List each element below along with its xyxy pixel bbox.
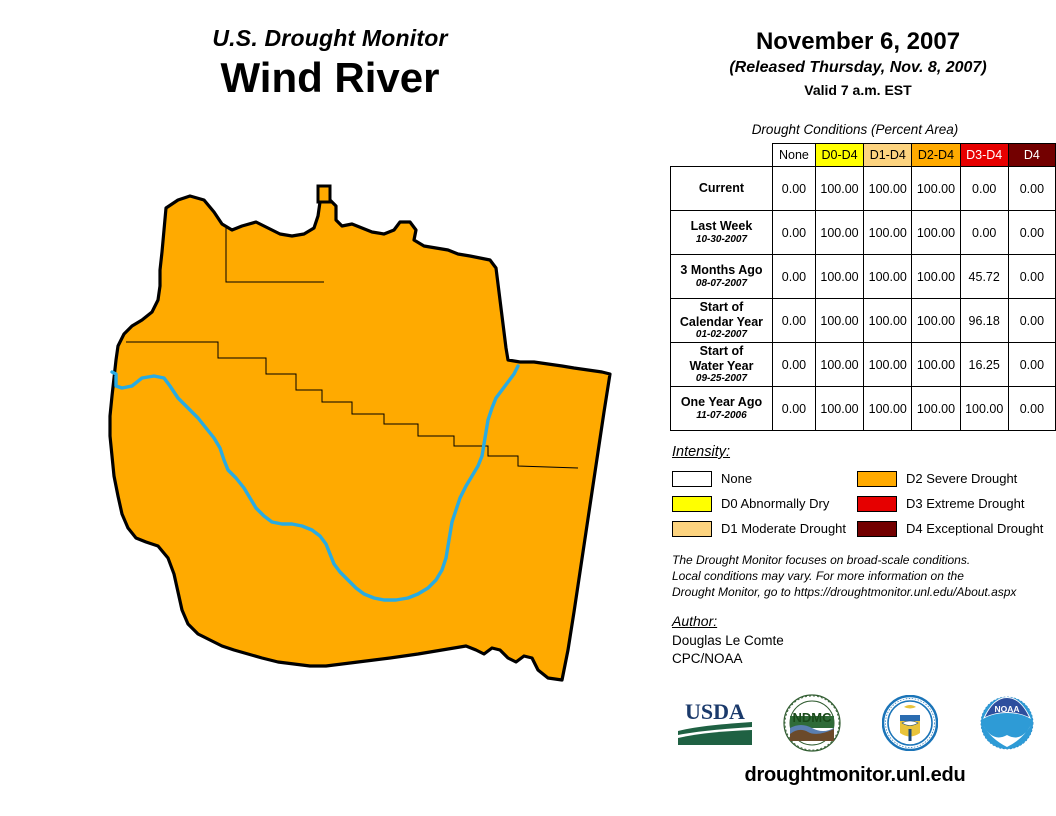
cell-d3-d4: 96.18 xyxy=(960,299,1008,343)
legend-label: D2 Severe Drought xyxy=(906,471,1017,486)
author-name: Douglas Le Comte xyxy=(672,632,1056,650)
legend-swatch xyxy=(857,471,897,487)
ndmc-logo-icon: NDMC xyxy=(783,694,841,752)
cell-d4: 0.00 xyxy=(1008,211,1055,255)
row-label-name: Start ofCalendar Year xyxy=(671,300,772,330)
legend-item: D3 Extreme Drought xyxy=(857,496,1056,512)
table-header: None D0-D4 D1-D4 D2-D4 D3-D4 D4 xyxy=(671,144,1056,167)
valid-time: Valid 7 a.m. EST xyxy=(660,81,1056,101)
disclaimer-line-2: Local conditions may vary. For more info… xyxy=(672,569,1056,585)
right-panel: November 6, 2007 (Released Thursday, Nov… xyxy=(660,0,1056,816)
cell-d4: 0.00 xyxy=(1008,343,1055,387)
usdc-seal-icon xyxy=(882,695,938,751)
cell-d1-d4: 100.00 xyxy=(864,299,912,343)
column-header-d4: D4 xyxy=(1008,144,1055,167)
cell-d3-d4: 45.72 xyxy=(960,255,1008,299)
cell-d4: 0.00 xyxy=(1008,255,1055,299)
cell-d0-d4: 100.00 xyxy=(815,211,863,255)
cell-d2-d4: 100.00 xyxy=(912,167,960,211)
cell-d2-d4: 100.00 xyxy=(912,343,960,387)
usda-logo[interactable]: USDA xyxy=(672,692,758,754)
cell-d2-d4: 100.00 xyxy=(912,211,960,255)
column-header-d2-d4: D2-D4 xyxy=(912,144,960,167)
legend-item: D4 Exceptional Drought xyxy=(857,521,1056,537)
cell-d2-d4: 100.00 xyxy=(912,255,960,299)
cell-d4: 0.00 xyxy=(1008,167,1055,211)
legend-swatch xyxy=(672,496,712,512)
row-label: Start ofCalendar Year01-02-2007 xyxy=(671,299,773,343)
cell-d1-d4: 100.00 xyxy=(864,343,912,387)
cell-d3-d4: 16.25 xyxy=(960,343,1008,387)
cell-d3-d4: 0.00 xyxy=(960,167,1008,211)
cell-none: 0.00 xyxy=(772,211,815,255)
row-label-date: 01-02-2007 xyxy=(671,329,772,341)
row-label: One Year Ago11-07-2006 xyxy=(671,387,773,431)
disclaimer-line-1: The Drought Monitor focuses on broad-sca… xyxy=(672,553,1056,569)
table-row: One Year Ago11-07-20060.00100.00100.0010… xyxy=(671,387,1056,431)
cell-d1-d4: 100.00 xyxy=(864,255,912,299)
cell-d4: 0.00 xyxy=(1008,299,1055,343)
legend-item: None xyxy=(672,471,857,487)
legend-swatch xyxy=(672,471,712,487)
map-svg xyxy=(18,150,658,790)
table-row: Start ofWater Year09-25-20070.00100.0010… xyxy=(671,343,1056,387)
cell-d1-d4: 100.00 xyxy=(864,167,912,211)
intensity-heading: Intensity: xyxy=(672,444,1056,460)
cell-d4: 0.00 xyxy=(1008,387,1055,431)
row-label-date: 08-07-2007 xyxy=(671,278,772,290)
row-label-name: Last Week xyxy=(671,219,772,234)
page-title: Wind River xyxy=(0,54,660,101)
cell-d0-d4: 100.00 xyxy=(815,167,863,211)
cell-d2-d4: 100.00 xyxy=(912,299,960,343)
cell-d3-d4: 100.00 xyxy=(960,387,1008,431)
legend-label: D4 Exceptional Drought xyxy=(906,521,1043,536)
table-body: Current0.00100.00100.00100.000.000.00Las… xyxy=(671,167,1056,431)
usdc-seal[interactable] xyxy=(867,692,953,754)
disclaimer-text: The Drought Monitor focuses on broad-sca… xyxy=(672,553,1056,601)
svg-text:USDA: USDA xyxy=(685,699,745,724)
column-header-none: None xyxy=(772,144,815,167)
row-label-name: Current xyxy=(671,181,772,196)
table-caption: Drought Conditions (Percent Area) xyxy=(660,122,1050,137)
row-label-name: Start ofWater Year xyxy=(671,344,772,374)
row-label-name: One Year Ago xyxy=(671,395,772,410)
intensity-legend: Intensity: NoneD2 Severe DroughtD0 Abnor… xyxy=(672,444,1056,541)
table-header-row: None D0-D4 D1-D4 D2-D4 D3-D4 D4 xyxy=(671,144,1056,167)
legend-grid: NoneD2 Severe DroughtD0 Abnormally DryD3… xyxy=(672,466,1056,541)
usda-logo-icon: USDA xyxy=(674,697,756,749)
cell-none: 0.00 xyxy=(772,255,815,299)
title-block: U.S. Drought Monitor Wind River xyxy=(0,26,660,101)
legend-item: D1 Moderate Drought xyxy=(672,521,857,537)
row-label: 3 Months Ago08-07-2007 xyxy=(671,255,773,299)
table-corner-cell xyxy=(671,144,773,167)
cell-d1-d4: 100.00 xyxy=(864,387,912,431)
legend-label: None xyxy=(721,471,752,486)
row-label: Current xyxy=(671,167,773,211)
program-title: U.S. Drought Monitor xyxy=(0,26,660,50)
cell-d0-d4: 100.00 xyxy=(815,255,863,299)
legend-swatch xyxy=(857,521,897,537)
row-label: Start ofWater Year09-25-2007 xyxy=(671,343,773,387)
cell-d1-d4: 100.00 xyxy=(864,211,912,255)
author-affiliation: CPC/NOAA xyxy=(672,650,1056,668)
cell-d2-d4: 100.00 xyxy=(912,387,960,431)
valid-date: November 6, 2007 xyxy=(660,28,1056,56)
cell-none: 0.00 xyxy=(772,299,815,343)
table-row: Current0.00100.00100.00100.000.000.00 xyxy=(671,167,1056,211)
northern-notch-detail xyxy=(318,186,330,202)
legend-item: D0 Abnormally Dry xyxy=(672,496,857,512)
cell-d0-d4: 100.00 xyxy=(815,299,863,343)
drought-conditions-table: None D0-D4 D1-D4 D2-D4 D3-D4 D4 Current0… xyxy=(670,143,1056,431)
row-label: Last Week10-30-2007 xyxy=(671,211,773,255)
cell-d0-d4: 100.00 xyxy=(815,387,863,431)
row-label-name: 3 Months Ago xyxy=(671,263,772,278)
row-label-date: 09-25-2007 xyxy=(671,373,772,385)
cell-none: 0.00 xyxy=(772,343,815,387)
column-header-d0-d4: D0-D4 xyxy=(815,144,863,167)
cell-none: 0.00 xyxy=(772,167,815,211)
released-date: (Released Thursday, Nov. 8, 2007) xyxy=(660,57,1056,79)
site-url[interactable]: droughtmonitor.unl.edu xyxy=(660,764,1050,787)
disclaimer-line-3: Drought Monitor, go to https://droughtmo… xyxy=(672,585,1056,601)
cell-d3-d4: 0.00 xyxy=(960,211,1008,255)
column-header-d3-d4: D3-D4 xyxy=(960,144,1008,167)
reservation-area-polygon xyxy=(110,196,610,680)
ndmc-logo[interactable]: NDMC xyxy=(769,692,855,754)
row-label-date: 10-30-2007 xyxy=(671,234,772,246)
noaa-logo-icon: NOAA xyxy=(979,695,1035,751)
table-row: Start ofCalendar Year01-02-20070.00100.0… xyxy=(671,299,1056,343)
legend-swatch xyxy=(857,496,897,512)
author-block: Author: Douglas Le Comte CPC/NOAA xyxy=(672,613,1056,668)
legend-item: D2 Severe Drought xyxy=(857,471,1056,487)
logo-row: USDA NDMC xyxy=(666,690,1056,756)
column-header-d1-d4: D1-D4 xyxy=(864,144,912,167)
author-heading: Author: xyxy=(672,613,1056,629)
legend-label: D3 Extreme Drought xyxy=(906,496,1025,511)
table-row: Last Week10-30-20070.00100.00100.00100.0… xyxy=(671,211,1056,255)
date-block: November 6, 2007 (Released Thursday, Nov… xyxy=(660,28,1056,101)
table-row: 3 Months Ago08-07-20070.00100.00100.0010… xyxy=(671,255,1056,299)
svg-text:NOAA: NOAA xyxy=(995,704,1020,714)
legend-swatch xyxy=(672,521,712,537)
drought-map[interactable] xyxy=(18,150,658,790)
cell-d0-d4: 100.00 xyxy=(815,343,863,387)
legend-label: D1 Moderate Drought xyxy=(721,521,846,536)
svg-text:NDMC: NDMC xyxy=(793,710,833,725)
noaa-logo[interactable]: NOAA xyxy=(964,692,1050,754)
row-label-date: 11-07-2006 xyxy=(671,410,772,422)
cell-none: 0.00 xyxy=(772,387,815,431)
legend-label: D0 Abnormally Dry xyxy=(721,496,829,511)
